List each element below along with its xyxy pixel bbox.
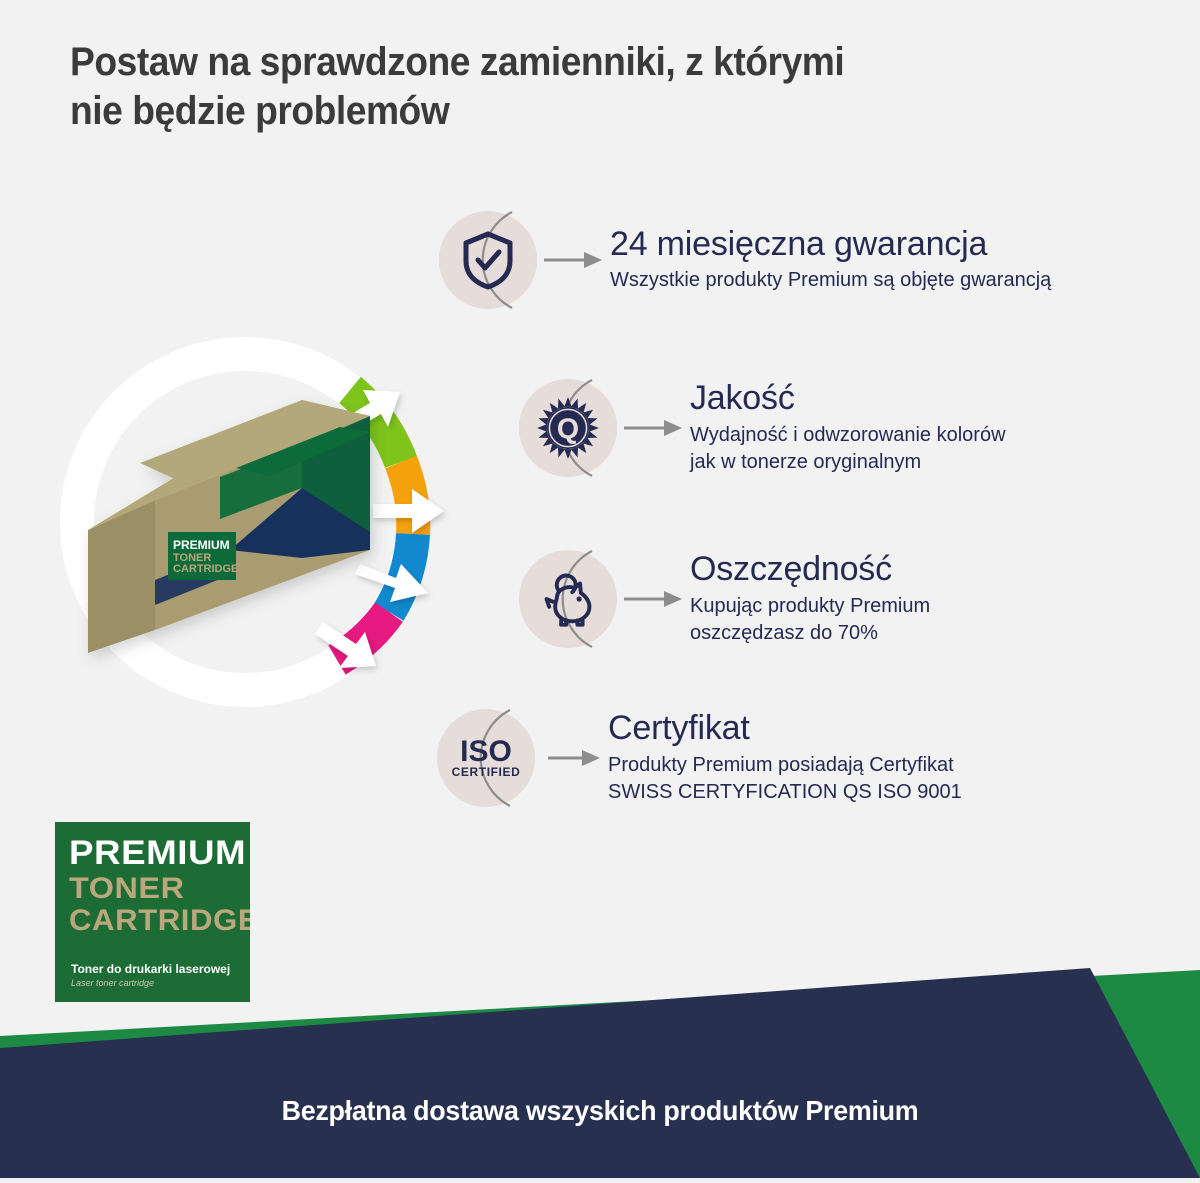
feature-certificate-badge: ISO CERTIFIED [430, 702, 542, 814]
feature-quality-badge: Q [512, 372, 624, 484]
page-title-line-1: Postaw na sprawdzone zamienniki, z który… [70, 38, 1074, 87]
footer-banner [0, 940, 1200, 1178]
connector-arrow [624, 584, 686, 614]
feature-heading: Jakość [690, 380, 1006, 417]
connector-arrow [624, 413, 686, 443]
feature-description-line: Kupując produkty Premium [690, 593, 930, 620]
piggy-bank-icon [512, 543, 624, 655]
feature-description-line: SWISS CERTYFICATION QS ISO 9001 [608, 779, 962, 806]
ring-segment-orange [401, 462, 413, 534]
infographic-canvas: Postaw na sprawdzone zamienniki, z który… [0, 0, 1200, 1178]
feature-quality[interactable]: Q Jakość Wydajność i odwzorowanie koloró… [512, 372, 1006, 484]
logo-cartridge-text: CARTRIDGE [69, 904, 250, 938]
feature-description: Wydajność i odwzorowanie kolorów jak w t… [690, 422, 1006, 476]
feature-savings[interactable]: Oszczędność Kupując produkty Premium osz… [512, 543, 930, 655]
feature-certificate-text: Certyfikat Produkty Premium posiadają Ce… [608, 710, 962, 805]
product-ring-graphic: PREMIUM TONER CARTRIDGE [40, 300, 490, 750]
toner-box: PREMIUM TONER CARTRIDGE [88, 400, 370, 653]
page-title: Postaw na sprawdzone zamienniki, z który… [70, 38, 1074, 136]
feature-warranty[interactable]: 24 miesięczna gwarancja Wszystkie produk… [432, 204, 1051, 316]
box-label-premium: PREMIUM [173, 538, 230, 552]
iso-icon-primary: ISO [460, 735, 512, 768]
feature-description-line: Wszystkie produkty Premium są objęte gwa… [610, 267, 1051, 294]
connector-arrow [542, 743, 604, 773]
feature-heading: Oszczędność [690, 551, 930, 588]
feature-quality-text: Jakość Wydajność i odwzorowanie kolorów … [690, 380, 1006, 475]
logo-toner-text: TONER [69, 872, 185, 906]
quality-seal-letter: Q [557, 414, 579, 446]
feature-heading: Certyfikat [608, 710, 962, 747]
quality-seal-icon: Q [512, 372, 624, 484]
feature-description-line: Produkty Premium posiadają Certyfikat [608, 752, 962, 779]
iso-certified-icon: ISO CERTIFIED [430, 702, 542, 814]
feature-description: Kupując produkty Premium oszczędzasz do … [690, 593, 930, 647]
box-label-cartridge: CARTRIDGE [173, 563, 238, 575]
connector-arrow [544, 245, 606, 275]
feature-heading: 24 miesięczna gwarancja [610, 226, 1051, 263]
iso-icon-secondary: CERTIFIED [452, 765, 521, 779]
box-side-left [88, 500, 155, 653]
shield-check-icon [432, 204, 544, 316]
footer-navy-shape [0, 968, 1200, 1178]
feature-warranty-text: 24 miesięczna gwarancja Wszystkie produk… [610, 226, 1051, 294]
feature-description: Wszystkie produkty Premium są objęte gwa… [610, 267, 1051, 294]
footer-text: Bezpłatna dostawa wszyskich produktów Pr… [24, 1095, 1176, 1127]
feature-description-line: jak w tonerze oryginalnym [690, 449, 1006, 476]
feature-description-line: oszczędzasz do 70% [690, 620, 930, 647]
feature-description: Produkty Premium posiadają Certyfikat SW… [608, 752, 962, 806]
page-title-line-2: nie będzie problemów [70, 87, 1074, 136]
feature-savings-text: Oszczędność Kupując produkty Premium osz… [690, 551, 930, 646]
feature-warranty-badge [432, 204, 544, 316]
feature-description-line: Wydajność i odwzorowanie kolorów [690, 422, 1006, 449]
logo-premium-text: PREMIUM [69, 834, 246, 873]
feature-savings-badge [512, 543, 624, 655]
feature-certificate[interactable]: ISO CERTIFIED Certyfikat Produkty Premiu… [430, 702, 962, 814]
